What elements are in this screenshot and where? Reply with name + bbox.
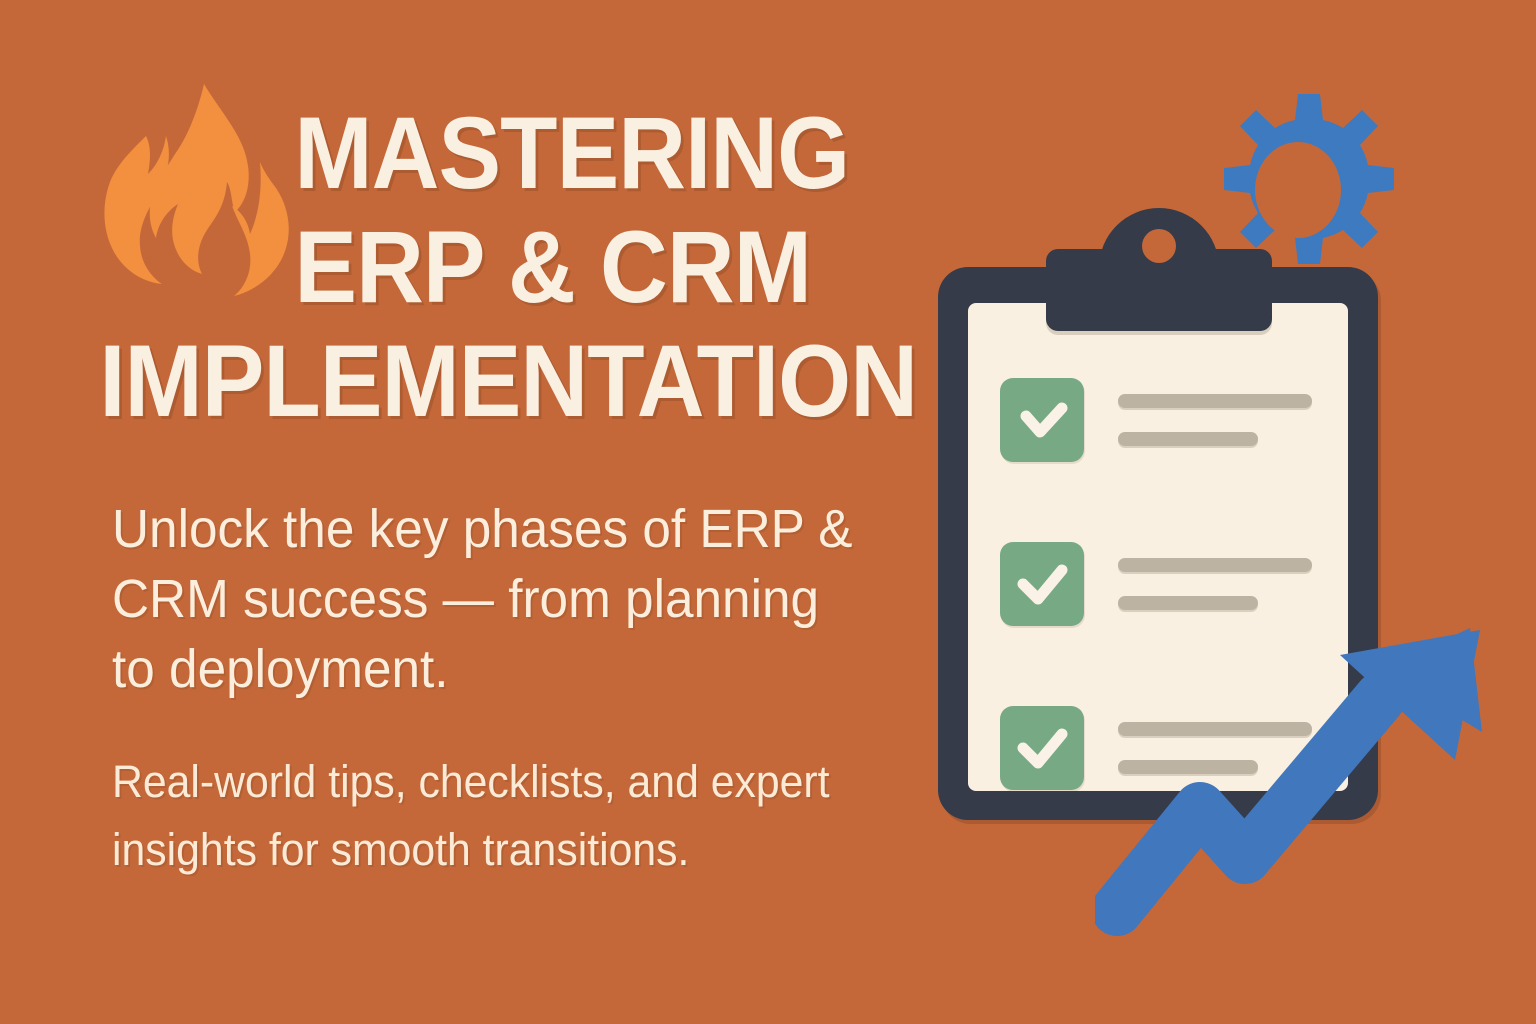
text-line-long <box>1118 558 1312 572</box>
checkbox-checked[interactable] <box>1000 378 1084 462</box>
poster-canvas: MASTERING ERP & CRM IMPLEMENTATION Unloc… <box>0 0 1536 1024</box>
down-arrow-check-icon <box>1000 378 1084 462</box>
clip-hole <box>1142 229 1176 263</box>
checklist-row[interactable] <box>1000 378 1360 462</box>
checkbox-checked[interactable] <box>1000 542 1084 626</box>
check-icon <box>1000 706 1084 790</box>
text-line-short <box>1118 432 1258 446</box>
tagline-text: Real-world tips, checklists, and expert … <box>112 748 967 884</box>
checklist-row-lines <box>1118 394 1360 446</box>
check-icon <box>1000 542 1084 626</box>
growth-arrow-icon <box>1095 610 1495 940</box>
flame-icon <box>100 82 300 317</box>
subtitle-text: Unlock the key phases of ERP & CRM succe… <box>112 494 872 704</box>
clipboard-clip <box>1046 208 1272 331</box>
checklist-row-lines <box>1118 558 1360 610</box>
text-line-short <box>1118 596 1258 610</box>
checkbox-checked[interactable] <box>1000 706 1084 790</box>
text-line-long <box>1118 394 1312 408</box>
